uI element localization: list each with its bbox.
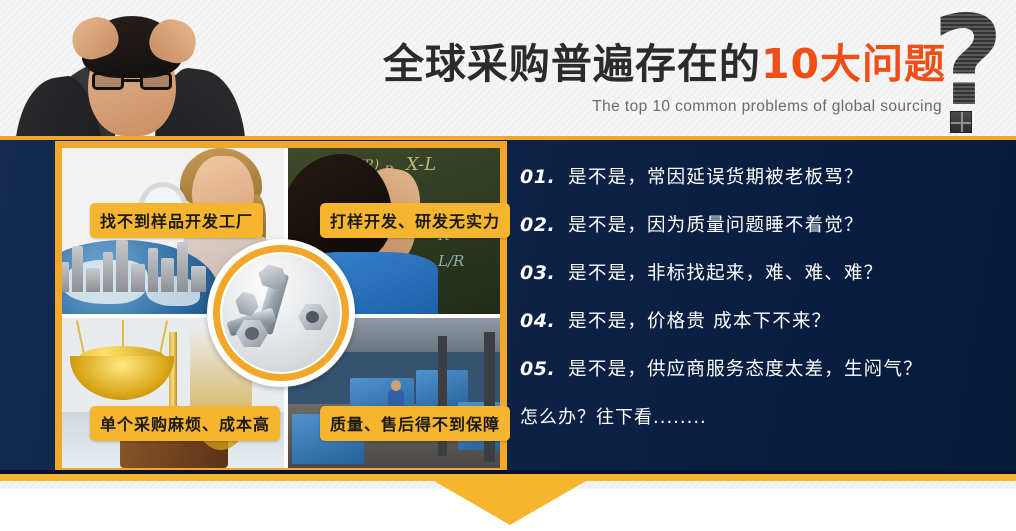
list-item-text: 是不是，常因延误货期被老板骂？ — [568, 163, 864, 189]
nut-2-hole — [306, 311, 319, 323]
caption-single-purchase-cost: 单个采购麻烦、成本高 — [90, 406, 280, 441]
pillar-2 — [484, 332, 495, 462]
bolts-photo — [222, 254, 340, 372]
scale-pan — [70, 356, 174, 400]
list-item: 04. 是不是，价格贵 成本下不来？ — [520, 307, 990, 333]
glasses-icon — [92, 72, 172, 90]
page-title: 全球采购普遍存在的10大问题 — [383, 44, 946, 85]
list-item-number: 04. — [520, 310, 555, 332]
list-item-number: 01. — [520, 166, 555, 188]
chalk-formula-4: L/R — [438, 252, 464, 270]
poster-root: 全球采购普遍存在的10大问题 The top 10 common problem… — [0, 0, 1016, 531]
factory-skyline — [62, 234, 222, 292]
caption-no-sample-factory: 找不到样品开发工厂 — [90, 203, 263, 238]
worker-head — [391, 380, 401, 391]
list-item-number: 03. — [520, 262, 555, 284]
bolts-circle-inset — [207, 239, 355, 387]
nut-1-hole — [245, 327, 259, 340]
list-item: 01. 是不是，常因延误货期被老板骂？ — [520, 163, 990, 189]
list-item: 05. 是不是，供应商服务态度太差，生闷气？ — [520, 355, 990, 381]
caption-no-rnd-strength: 打样开发、研发无实力 — [320, 203, 510, 238]
page-subtitle: The top 10 common problems of global sou… — [592, 98, 942, 116]
question-mark-icon: ? — [932, 16, 1010, 136]
chalk-formula-1: X-L — [406, 154, 436, 175]
question-mark-dot — [950, 111, 972, 133]
footer-divider-rule — [0, 474, 1016, 481]
list-item-text: 是不是，价格贵 成本下不来？ — [568, 307, 831, 333]
list-item: 03. 是不是，非标找起来，难、难、难？ — [520, 259, 990, 285]
caption-no-quality-guarantee: 质量、售后得不到保障 — [320, 406, 510, 441]
title-primary: 全球采购普遍存在的 — [383, 40, 761, 88]
header: 全球采购普遍存在的10大问题 The top 10 common problem… — [0, 0, 1016, 138]
list-item-number: 02. — [520, 214, 555, 236]
list-item-text: 是不是，供应商服务态度太差，生闷气？ — [568, 355, 923, 381]
list-item: 02. 是不是，因为质量问题睡不着觉？ — [520, 211, 990, 237]
problem-list: 01. 是不是，常因延误货期被老板骂？ 02. 是不是，因为质量问题睡不着觉？ … — [520, 163, 990, 429]
list-item-text: 是不是，非标找起来，难、难、难？ — [568, 259, 883, 285]
down-arrow-icon — [434, 481, 586, 525]
list-item-number: 05. — [520, 358, 555, 380]
list-footnote: 怎么办？往下看........ — [520, 403, 990, 429]
list-item-text: 是不是，因为质量问题睡不着觉？ — [568, 211, 864, 237]
title-accent: 10大问题 — [761, 40, 946, 88]
